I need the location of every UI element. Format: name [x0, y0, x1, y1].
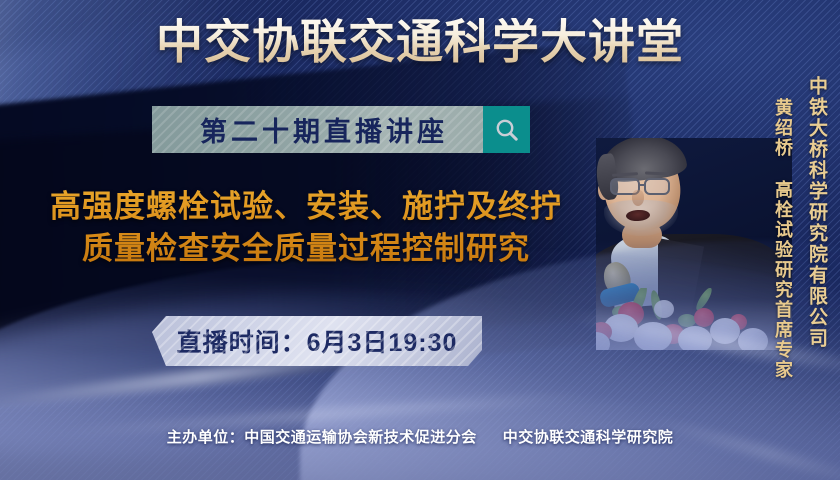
livestream-poster: 中交协联交通科学大讲堂 第二十期直播讲座 高强度螺栓试验、安装、施拧及终拧 质量…: [0, 0, 840, 480]
episode-label: 第二十期直播讲座: [152, 110, 530, 149]
speaker-company: 中铁大桥科学研究院有限公司: [803, 76, 830, 349]
broadcast-time-badge: 直播时间：6月3日19:30: [152, 316, 482, 366]
footer-organizer-label: 主办单位：中国交通运输协会新技术促进分会: [167, 429, 477, 446]
lecture-title-line-2: 质量检查安全质量过程控制研究: [14, 228, 598, 270]
lecture-title-line-1: 高强度螺栓试验、安装、施拧及终拧: [14, 186, 598, 228]
lecture-title: 高强度螺栓试验、安装、施拧及终拧 质量检查安全质量过程控制研究: [14, 186, 598, 270]
broadcast-time-label: 直播时间：6月3日19:30: [177, 323, 458, 359]
footer-organizers: 主办单位：中国交通运输协会新技术促进分会中交协联交通科学研究院: [0, 426, 840, 447]
speaker-name-title: 黄绍桥 高栓试验研究首席专家: [770, 98, 796, 380]
episode-band: 第二十期直播讲座: [152, 106, 530, 153]
poster-headline: 中交协联交通科学大讲堂: [0, 18, 840, 65]
search-icon[interactable]: [483, 106, 530, 153]
footer-institute: 中交协联交通科学研究院: [503, 429, 674, 446]
